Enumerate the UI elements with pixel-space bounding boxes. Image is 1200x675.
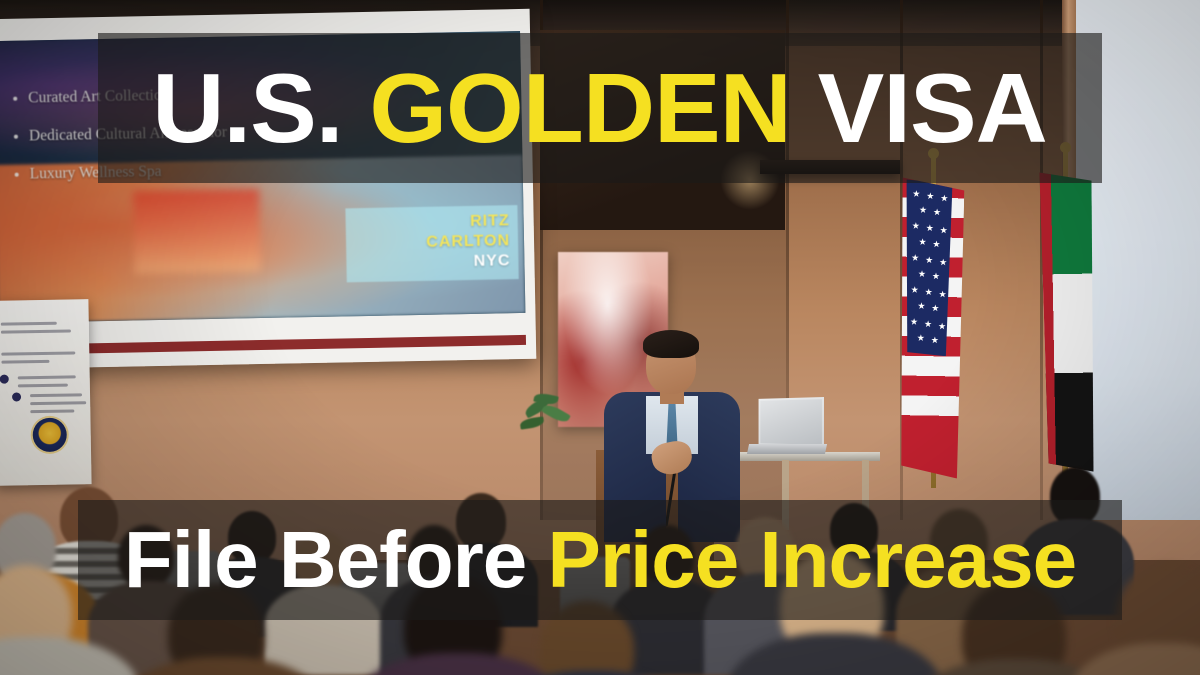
bottom-headline-bar: File Before Price Increase <box>78 500 1122 620</box>
us-flag-star: ★ <box>910 318 918 327</box>
us-flag-star: ★ <box>918 238 926 247</box>
top-headline-part-1: U.S. <box>153 53 370 163</box>
us-flag-star: ★ <box>926 192 934 201</box>
poster-text-line <box>1 329 71 333</box>
us-flag-star: ★ <box>939 290 947 299</box>
us-flag-star: ★ <box>911 254 919 263</box>
us-flag-star: ★ <box>917 334 925 343</box>
top-headline-part-3: VISA <box>818 53 1047 163</box>
top-headline-part-2: GOLDEN <box>370 53 818 163</box>
us-flag-star: ★ <box>924 320 932 329</box>
thumbnail-canvas: Curated Art Collection Dedicated Cultura… <box>0 0 1200 675</box>
slide-brand-line-3: NYC <box>352 251 510 274</box>
slide-brand-block: RITZ CARLTON NYC <box>345 205 518 282</box>
us-flag-star: ★ <box>911 286 919 295</box>
bottom-headline-part-2: Price Increase <box>548 515 1077 604</box>
us-flag-star: ★ <box>932 272 940 281</box>
us-flag-star: ★ <box>912 190 920 199</box>
us-flag-star: ★ <box>939 258 947 267</box>
poster-text-line <box>1 360 49 364</box>
poster-text-line <box>1 322 57 326</box>
us-flag-star: ★ <box>938 322 946 331</box>
bottom-headline: File Before Price Increase <box>124 520 1076 600</box>
us-flag-star: ★ <box>918 270 926 279</box>
us-flag-star: ★ <box>925 256 933 265</box>
us-flag-star: ★ <box>926 224 934 233</box>
poster-text-line <box>1 351 75 355</box>
us-flag-star: ★ <box>931 336 939 345</box>
us-flag-star: ★ <box>940 194 948 203</box>
presenter-hair <box>643 330 699 358</box>
us-flag-star: ★ <box>917 302 925 311</box>
us-flag-star: ★ <box>932 240 940 249</box>
us-flag-star: ★ <box>933 208 941 217</box>
top-headline: U.S. GOLDEN VISA <box>153 59 1048 157</box>
us-flag-star: ★ <box>919 206 927 215</box>
bottom-headline-part-1: File Before <box>124 515 548 604</box>
us-flag-star: ★ <box>940 226 948 235</box>
us-flag-star: ★ <box>925 288 933 297</box>
us-flag-star: ★ <box>912 222 920 231</box>
us-flag-star: ★ <box>931 304 939 313</box>
top-headline-bar: U.S. GOLDEN VISA <box>98 33 1102 183</box>
audience-shoulders <box>1068 643 1200 675</box>
